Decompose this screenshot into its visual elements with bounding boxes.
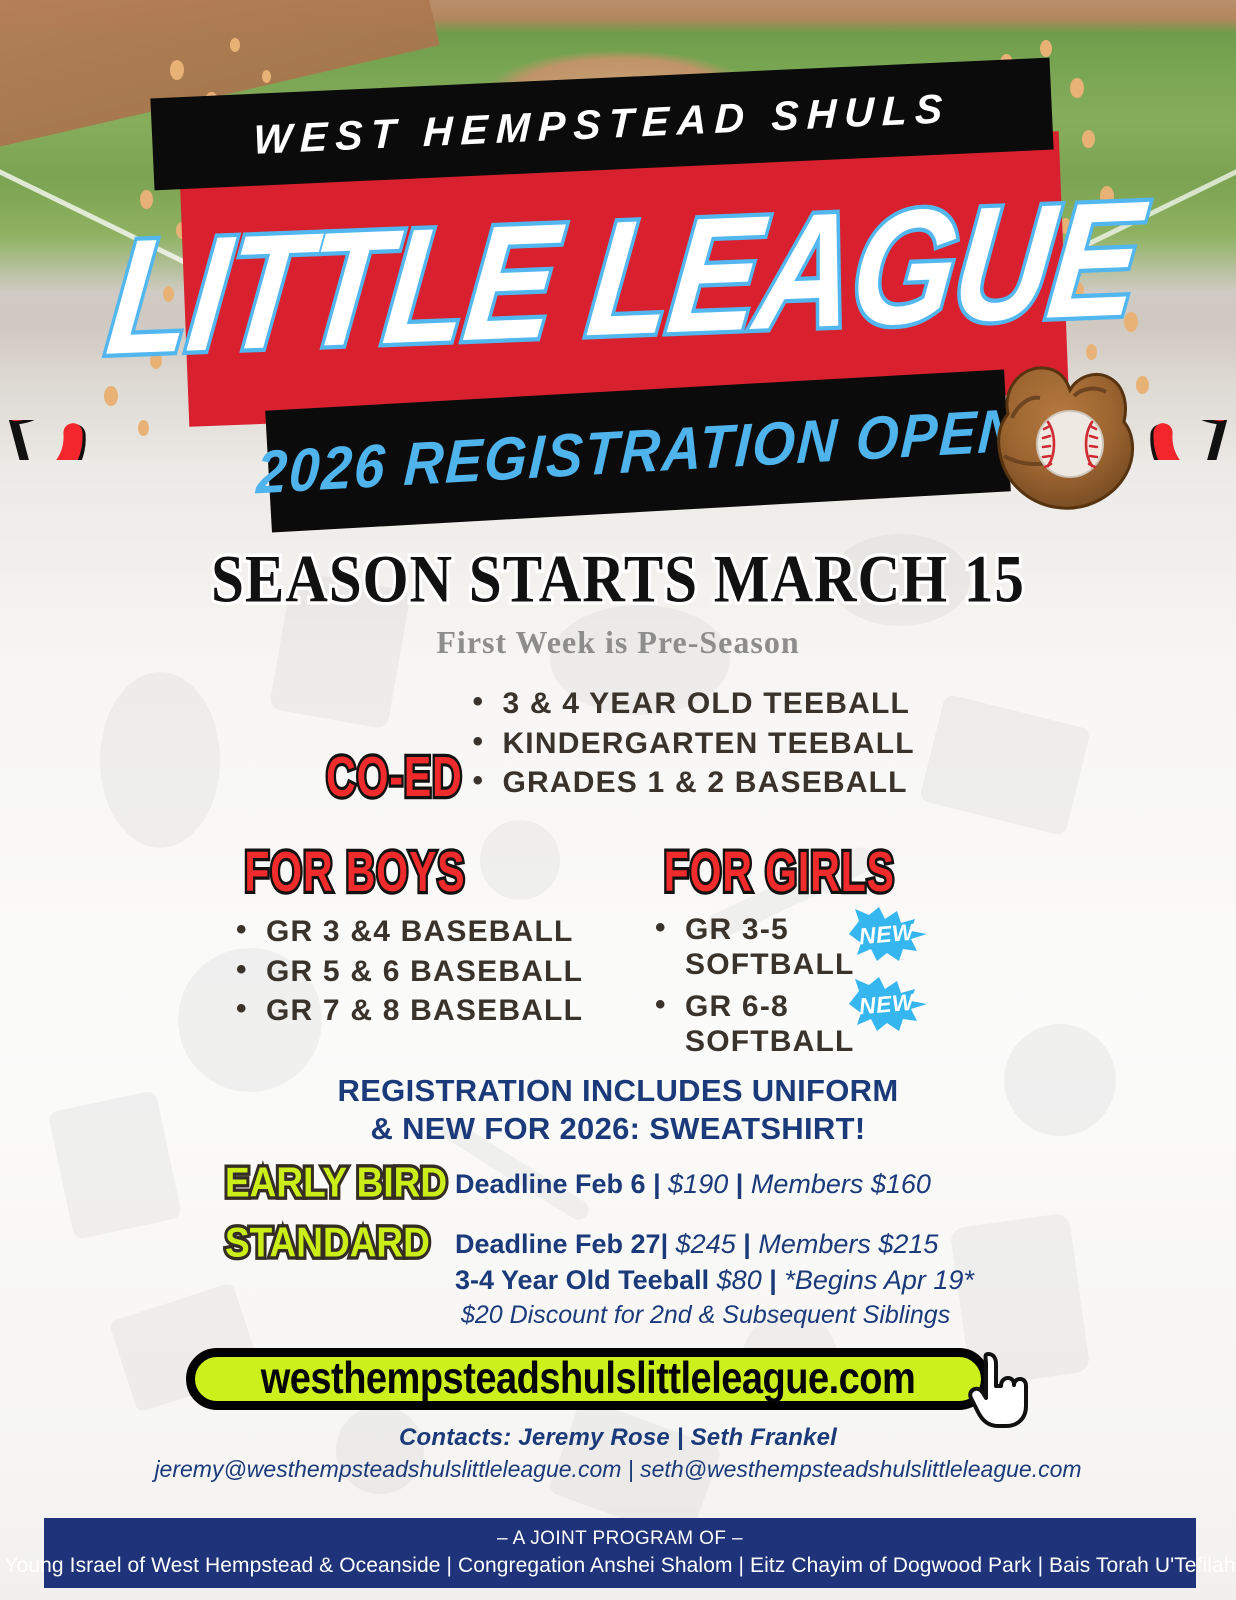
baseball-glove-icon [978, 352, 1153, 527]
website-button[interactable]: westhempsteadshulslittleleague.com [186, 1348, 990, 1410]
pricing-row-standard: STANDARD Deadline Feb 27| $245 | Members… [225, 1223, 1015, 1332]
standard-details: Deadline Feb 27| $245 | Members $215 3-4… [455, 1223, 974, 1332]
sep: | [653, 1169, 661, 1199]
new-badge-label: NEW [858, 988, 915, 1020]
coed-list-item: KINDERGARTEN TEEBALL [472, 724, 914, 764]
boys-list-item: GR 7 & 8 BASEBALL [236, 991, 583, 1031]
footer-kicker: – A JOINT PROGRAM OF – [497, 1528, 743, 1550]
standard-member-price: Members $215 [758, 1229, 938, 1259]
boys-heading: FOR BOYS [244, 841, 465, 905]
season-headline: SEASON STARTS MARCH 15 [211, 540, 1025, 619]
includes-line-1: REGISTRATION INCLUDES UNIFORM [0, 1072, 1236, 1110]
standard-deadline: Deadline Feb 27 [455, 1229, 661, 1259]
season-subhead: First Week is Pre-Season [0, 624, 1236, 661]
includes-line-2: & NEW FOR 2026: SWEATSHIRT! [0, 1110, 1236, 1148]
sibling-discount-note: $20 Discount for 2nd & Subsequent Siblin… [455, 1299, 974, 1332]
website-url-label: westhempsteadshulslittleleague.com [261, 1354, 916, 1405]
boys-list-item: GR 3 &4 BASEBALL [236, 912, 583, 952]
sep: | [743, 1229, 751, 1259]
new-badge-girls-3-5: NEW [845, 905, 929, 963]
teeball-line: 3-4 Year Old Teeball $80 | *Begins Apr 1… [455, 1263, 974, 1299]
confetti-dot [1082, 130, 1095, 148]
confetti-dot [170, 60, 184, 80]
teeball-price: $80 [717, 1265, 762, 1295]
contacts-emails: jeremy@westhempsteadshulslittleleague.co… [0, 1456, 1236, 1483]
pricing-block: EARLY BIRD Deadline Feb 6 | $190 | Membe… [225, 1163, 1015, 1332]
coed-heading: CO-ED [326, 746, 463, 810]
coed-list: 3 & 4 YEAR OLD TEEBALLKINDERGARTEN TEEBA… [472, 684, 914, 803]
coed-list-item: GRADES 1 & 2 BASEBALL [472, 763, 914, 803]
early-bird-member-price: Members $160 [751, 1169, 931, 1199]
contacts-names: Contacts: Jeremy Rose | Seth Frankel [0, 1424, 1236, 1452]
new-badge-girls-6-8: NEW [845, 975, 929, 1033]
standard-line: Deadline Feb 27| $245 | Members $215 [455, 1227, 974, 1263]
standard-tier-label: STANDARD [225, 1221, 455, 1265]
flyer-root: WEST HEMPSTEAD SHULS LITTLE LEAGUE 2026 … [0, 0, 1236, 1600]
header-kicker-text: WEST HEMPSTEAD SHULS [253, 85, 951, 164]
standard-price: $245 [676, 1229, 736, 1259]
contacts-block: Contacts: Jeremy Rose | Seth Frankel jer… [0, 1424, 1236, 1483]
confetti-dot [1040, 40, 1052, 57]
pricing-row-early-bird: EARLY BIRD Deadline Feb 6 | $190 | Membe… [225, 1163, 1015, 1203]
header-title-text: LITTLE LEAGUE [100, 178, 1147, 381]
early-bird-price: $190 [668, 1169, 728, 1199]
season-block: SEASON STARTS MARCH 15 First Week is Pre… [0, 545, 1236, 661]
division-coed: CO-ED 3 & 4 YEAR OLD TEEBALLKINDERGARTEN… [0, 672, 1236, 803]
confetti-dot [262, 70, 271, 83]
coed-list-item: 3 & 4 YEAR OLD TEEBALL [472, 684, 914, 724]
teeball-start-note: *Begins Apr 19* [784, 1265, 974, 1295]
confetti-dot [1070, 78, 1084, 98]
pointer-hand-cursor-icon [968, 1350, 1030, 1430]
registration-includes-block: REGISTRATION INCLUDES UNIFORM & NEW FOR … [0, 1072, 1236, 1148]
early-bird-tier-label: EARLY BIRD [225, 1161, 455, 1205]
early-bird-details: Deadline Feb 6 | $190 | Members $160 [455, 1163, 931, 1203]
sep: | [661, 1229, 669, 1259]
confetti-dot [138, 420, 149, 436]
sep: | [736, 1169, 744, 1199]
sep: | [769, 1265, 777, 1295]
teeball-label: 3-4 Year Old Teeball [455, 1265, 709, 1295]
early-bird-deadline: Deadline Feb 6 [455, 1169, 646, 1199]
footer-bar: – A JOINT PROGRAM OF – Young Israel of W… [44, 1518, 1196, 1588]
new-badge-label: NEW [858, 918, 915, 950]
boys-list-item: GR 5 & 6 BASEBALL [236, 952, 583, 992]
boys-list: GR 3 &4 BASEBALLGR 5 & 6 BASEBALLGR 7 & … [236, 912, 583, 1031]
girls-heading: FOR GIRLS [664, 841, 895, 905]
header-subtitle-text: 2026 REGISTRATION OPEN [255, 394, 1022, 507]
confetti-dot [230, 38, 240, 52]
footer-partners: Young Israel of West Hempstead & Oceansi… [4, 1554, 1235, 1578]
early-bird-line: Deadline Feb 6 | $190 | Members $160 [455, 1167, 931, 1203]
division-boys: FOR BOYS GR 3 &4 BASEBALLGR 5 & 6 BASEBA… [236, 848, 583, 1031]
